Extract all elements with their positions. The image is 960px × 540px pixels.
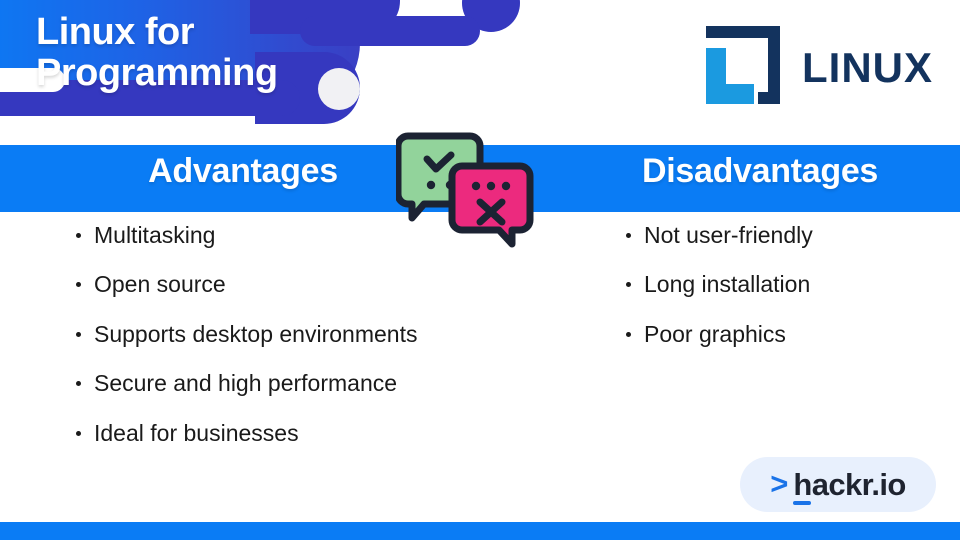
chevron-right-icon: > [770,468,788,499]
list-item: Ideal for businesses [72,420,542,446]
hackr-wordmark: hackr.io [793,469,905,500]
hackr-underline-accent [793,501,811,505]
decorative-bar-2 [300,16,480,46]
page-title: Linux for Programming [36,12,278,94]
disadvantages-column: Not user-friendly Long installation Poor… [622,222,942,370]
advantages-heading: Advantages [78,152,408,191]
linux-bracket-icon [700,22,786,113]
hackr-wordmark-text: hackr.io [793,467,905,502]
advantages-column: Multitasking Open source Supports deskto… [72,222,542,469]
list-item: Poor graphics [622,321,942,347]
list-item: Not user-friendly [622,222,942,248]
disadvantages-heading: Disadvantages [560,152,960,191]
list-item: Secure and high performance [72,370,542,396]
pink-x-speech-bubble-icon [452,166,530,244]
footer-bar [0,522,960,540]
linux-wordmark: LINUX [802,44,933,92]
bubble-pair-illustration [396,128,536,248]
list-item: Open source [72,271,542,297]
linux-brand-logo: LINUX [700,22,933,113]
disadvantages-list: Not user-friendly Long installation Poor… [622,222,942,347]
hackr-io-logo: > hackr.io [740,457,936,512]
list-item: Long installation [622,271,942,297]
list-item: Supports desktop environments [72,321,542,347]
advantages-list: Multitasking Open source Supports deskto… [72,222,542,446]
decorative-sphere [318,68,360,110]
infographic-canvas: Linux for Programming LINUX Advantages D… [0,0,960,540]
